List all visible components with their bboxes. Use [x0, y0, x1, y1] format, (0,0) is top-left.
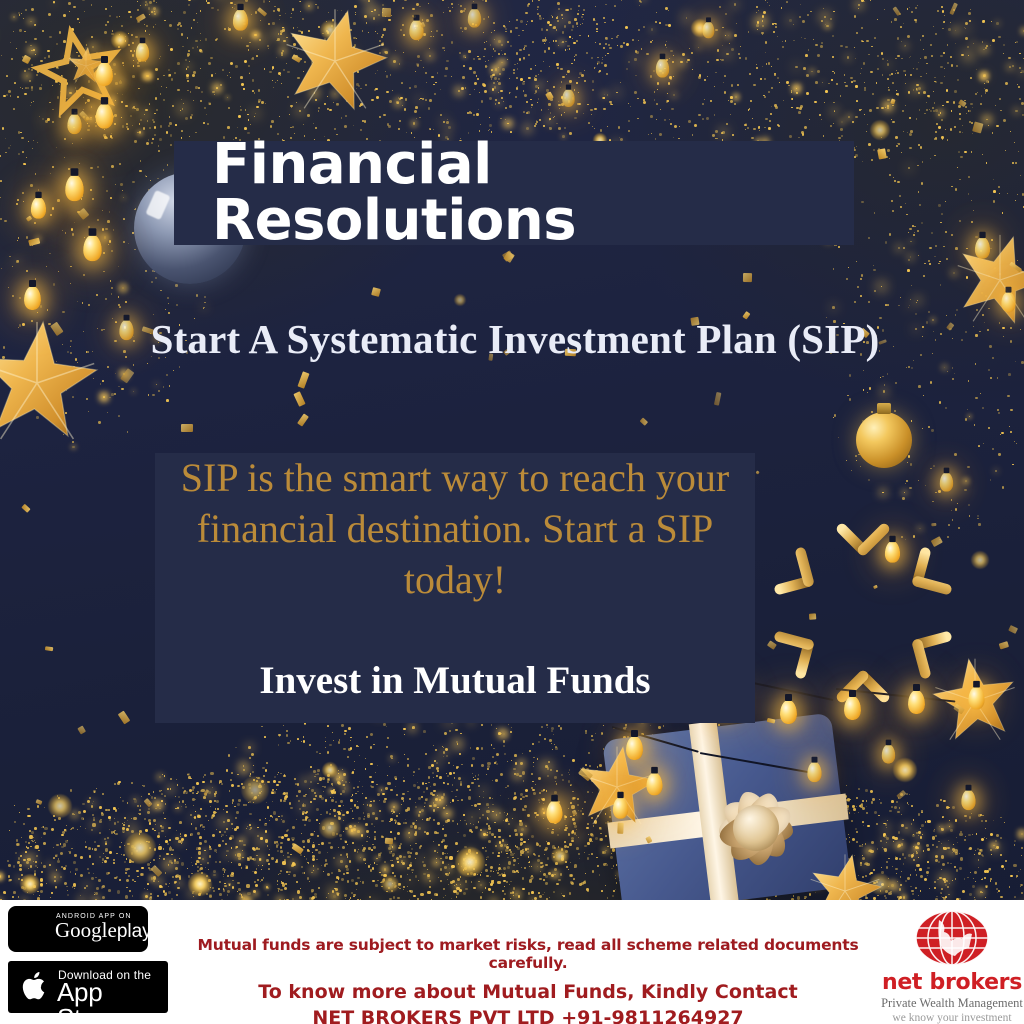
logo-tagline-1: Private Wealth Management — [880, 996, 1024, 1011]
light-bulb-icon — [885, 541, 900, 563]
light-bulb-icon — [975, 237, 990, 259]
gold-description-text: SIP is the smart way to reach your finan… — [180, 452, 730, 606]
gift-bow — [696, 768, 816, 888]
logo-tagline-2: we know your investment needs — [880, 1012, 1024, 1024]
google-play-badge[interactable]: ANDROID APP ON Googleplay — [8, 906, 148, 952]
light-bulb-icon — [24, 286, 41, 310]
footer-bar: ANDROID APP ON Googleplay Download on th… — [0, 900, 1024, 1024]
risk-disclaimer-text: Mutual funds are subject to market risks… — [178, 936, 878, 972]
app-store-badge[interactable]: Download on the App Store — [8, 961, 168, 1013]
light-bulb-icon — [961, 790, 975, 810]
light-bulb-icon — [546, 801, 562, 824]
light-bulb-icon — [562, 89, 575, 107]
light-bulb-icon — [940, 472, 954, 491]
light-bulb-icon — [468, 8, 482, 27]
light-bulb-icon — [646, 773, 662, 796]
light-bulb-icon — [703, 22, 715, 39]
light-bulb-icon — [613, 797, 628, 819]
light-bulb-icon — [780, 700, 797, 724]
gold-bauble-ornament — [856, 412, 912, 468]
play-word-play: play — [117, 921, 152, 942]
red-globe-icon — [915, 910, 989, 966]
light-bulb-icon — [908, 690, 925, 714]
light-bulb-icon — [96, 62, 113, 86]
app-badge-big-label: App Store — [57, 979, 168, 1024]
light-bulb-icon — [1001, 292, 1015, 312]
light-bulb-icon — [807, 762, 821, 782]
light-bulb-icon — [136, 42, 150, 61]
light-bulb-icon — [626, 736, 643, 760]
light-bulb-icon — [31, 197, 46, 219]
light-bulb-icon — [968, 687, 984, 710]
light-bulb-icon — [656, 58, 670, 77]
light-bulb-icon — [67, 114, 81, 134]
invest-call-to-action: Invest in Mutual Funds — [180, 658, 730, 703]
page-title: Financial Resolutions — [174, 137, 854, 249]
company-contact-text: NET BROKERS PVT LTD +91-9811264927 — [178, 1007, 878, 1024]
app-badges: ANDROID APP ON Googleplay Download on th… — [8, 906, 178, 1013]
title-banner: Financial Resolutions — [174, 141, 854, 245]
promotional-poster: Financial Resolutions Start A Systematic… — [0, 0, 1024, 1024]
net-brokers-logo: net brokers Private Wealth Management we… — [880, 910, 1024, 1024]
headline-text: Start A Systematic Investment Plan (SIP) — [140, 312, 890, 366]
light-bulb-icon — [882, 744, 896, 763]
gold-star-icon — [0, 318, 102, 448]
light-bulb-icon — [83, 235, 102, 261]
contact-prompt-text: To know more about Mutual Funds, Kindly … — [178, 981, 878, 1003]
logo-name: net brokers — [880, 972, 1024, 994]
light-bulb-icon — [96, 103, 114, 128]
light-bulb-icon — [233, 9, 248, 31]
apple-icon — [21, 969, 49, 1003]
disclaimer-block: Mutual funds are subject to market risks… — [178, 936, 878, 1024]
light-bulb-icon — [119, 320, 133, 340]
light-bulb-icon — [65, 175, 84, 201]
light-bulb-icon — [844, 696, 861, 720]
play-word-google: Google — [55, 918, 117, 942]
play-badge-big-label: Googleplay — [55, 920, 152, 941]
